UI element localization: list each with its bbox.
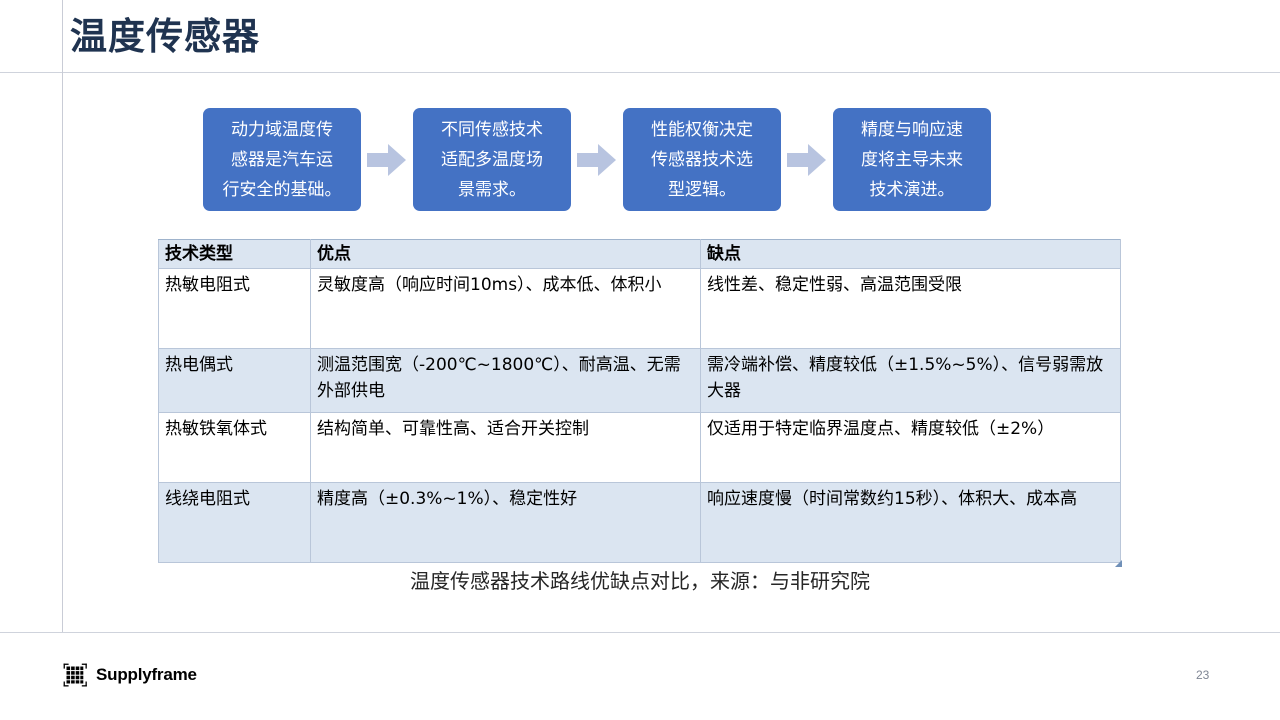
flow-box-1-line-2: 感器是汽车运 [223, 145, 342, 175]
page-title: 温度传感器 [70, 12, 260, 62]
table-row: 热敏铁氧体式 结构简单、可靠性高、适合开关控制 仅适用于特定临界温度点、精度较低… [159, 413, 1121, 483]
cell-cons: 需冷端补偿、精度较低（±1.5%~5%）、信号弱需放大器 [701, 349, 1121, 413]
table-caption: 温度传感器技术路线优缺点对比，来源：与非研究院 [0, 565, 1280, 594]
table-row: 线绕电阻式 精度高（±0.3%~1%）、稳定性好 响应速度慢（时间常数约15秒）… [159, 483, 1121, 563]
cell-type: 线绕电阻式 [159, 483, 311, 563]
flow-box-3-line-2: 传感器技术选 [651, 145, 753, 175]
cell-type: 热敏电阻式 [159, 269, 311, 349]
flow-box-3[interactable]: 性能权衡决定 传感器技术选 型逻辑。 [623, 108, 781, 211]
flow-box-1-line-3: 行安全的基础。 [223, 175, 342, 205]
table-header-row: 技术类型 优点 缺点 [159, 240, 1121, 269]
footer-logo: Supplyframe [62, 662, 197, 688]
arrow-right-icon-3 [781, 137, 833, 183]
supplyframe-grid-logo-icon [62, 662, 88, 688]
flow-box-2-line-3: 景需求。 [441, 175, 543, 205]
table-row: 热电偶式 测温范围宽（-200℃~1800℃）、耐高温、无需外部供电 需冷端补偿… [159, 349, 1121, 413]
flow-box-4[interactable]: 精度与响应速 度将主导未来 技术演进。 [833, 108, 991, 211]
comparison-table: 技术类型 优点 缺点 热敏电阻式 灵敏度高（响应时间10ms）、成本低、体积小 … [158, 239, 1121, 563]
process-flow-diagram: 动力域温度传 感器是汽车运 行安全的基础。 不同传感技术 适配多温度场 景需求。 [203, 108, 991, 211]
flow-box-2[interactable]: 不同传感技术 适配多温度场 景需求。 [413, 108, 571, 211]
flow-box-2-line-2: 适配多温度场 [441, 145, 543, 175]
arrow-right-icon-1 [361, 137, 413, 183]
table-row: 热敏电阻式 灵敏度高（响应时间10ms）、成本低、体积小 线性差、稳定性弱、高温… [159, 269, 1121, 349]
column-header-cons: 缺点 [701, 240, 1121, 269]
header-divider [0, 72, 1280, 73]
page-number: 23 [1196, 668, 1209, 682]
slide-canvas: 温度传感器 动力域温度传 感器是汽车运 行安全的基础。 不同传感技术 适配多温度… [0, 0, 1280, 720]
flow-box-2-line-1: 不同传感技术 [441, 115, 543, 145]
content-frame-left-border [62, 0, 63, 633]
flow-box-4-line-2: 度将主导未来 [861, 145, 963, 175]
flow-box-3-line-3: 型逻辑。 [651, 175, 753, 205]
arrow-right-icon-2 [571, 137, 623, 183]
flow-box-1-line-1: 动力域温度传 [223, 115, 342, 145]
flow-box-4-line-1: 精度与响应速 [861, 115, 963, 145]
footer-divider [0, 632, 1280, 633]
cell-pros: 结构简单、可靠性高、适合开关控制 [311, 413, 701, 483]
column-header-type: 技术类型 [159, 240, 311, 269]
footer-logo-text: Supplyframe [96, 665, 197, 685]
flow-box-1[interactable]: 动力域温度传 感器是汽车运 行安全的基础。 [203, 108, 361, 211]
cell-pros: 灵敏度高（响应时间10ms）、成本低、体积小 [311, 269, 701, 349]
cell-type: 热电偶式 [159, 349, 311, 413]
cell-pros: 精度高（±0.3%~1%）、稳定性好 [311, 483, 701, 563]
cell-cons: 仅适用于特定临界温度点、精度较低（±2%） [701, 413, 1121, 483]
cell-pros: 测温范围宽（-200℃~1800℃）、耐高温、无需外部供电 [311, 349, 701, 413]
flow-box-4-line-3: 技术演进。 [861, 175, 963, 205]
comparison-table-container[interactable]: 技术类型 优点 缺点 热敏电阻式 灵敏度高（响应时间10ms）、成本低、体积小 … [158, 239, 1120, 563]
cell-cons: 响应速度慢（时间常数约15秒）、体积大、成本高 [701, 483, 1121, 563]
cell-type: 热敏铁氧体式 [159, 413, 311, 483]
cell-cons: 线性差、稳定性弱、高温范围受限 [701, 269, 1121, 349]
flow-box-3-line-1: 性能权衡决定 [651, 115, 753, 145]
column-header-pros: 优点 [311, 240, 701, 269]
